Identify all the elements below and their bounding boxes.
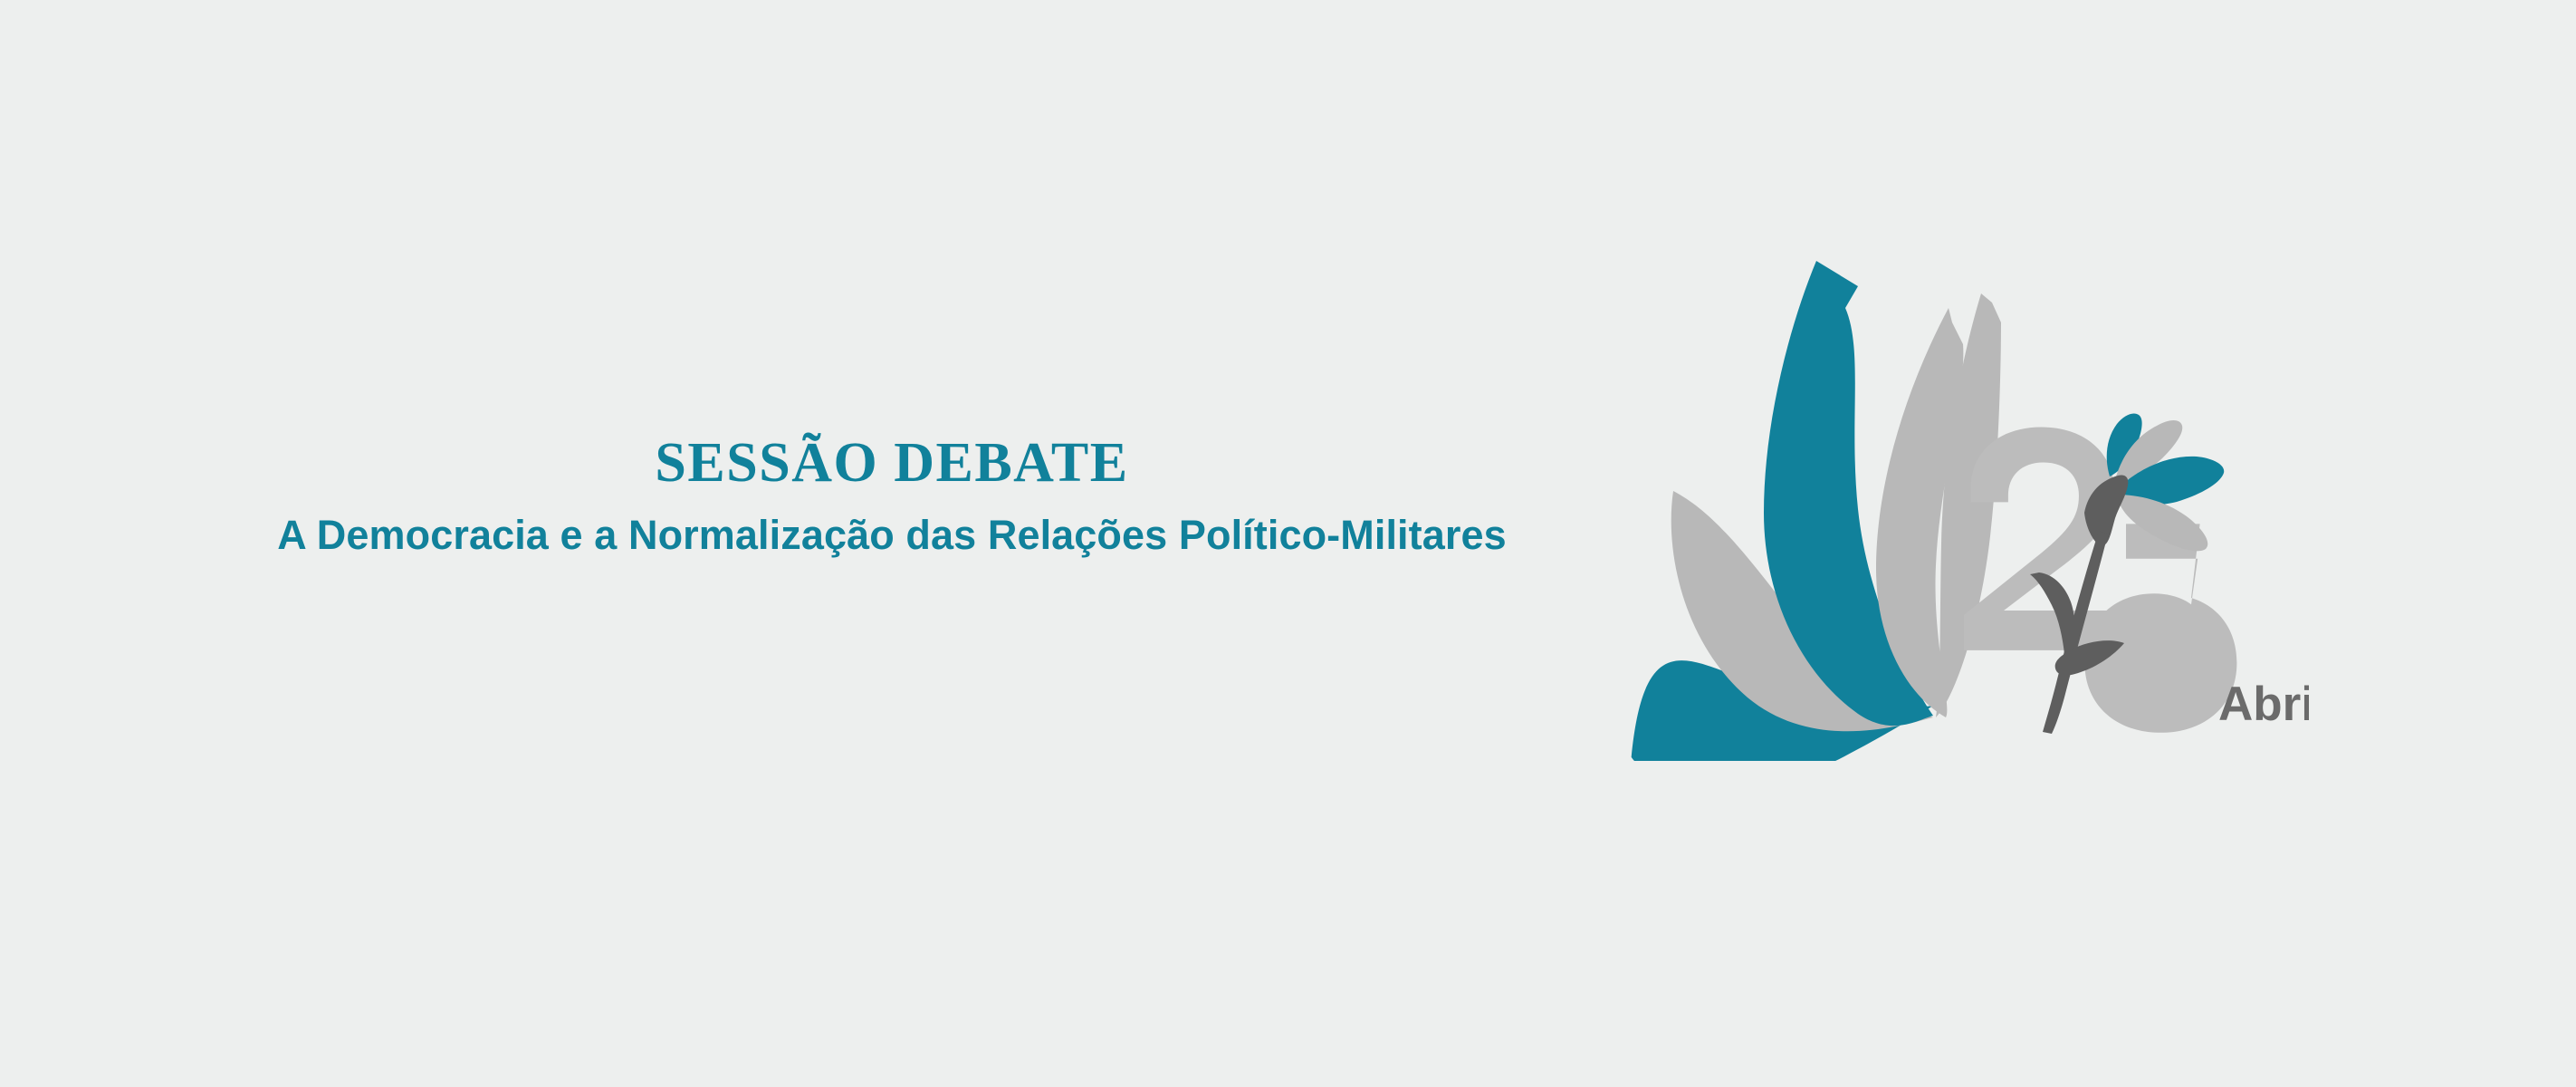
banner-root: SESSÃO DEBATE A Democracia e a Normaliza…: [0, 0, 2576, 1087]
logo-abril-label: Abril: [2218, 678, 2309, 731]
page-title: SESSÃO DEBATE: [127, 435, 1657, 491]
logo-carnation-flower: [2084, 413, 2224, 551]
page-subtitle: A Democracia e a Normalização das Relaçõ…: [127, 515, 1657, 555]
logo-25-abril: Abril: [1621, 254, 2309, 761]
banner-text-block: SESSÃO DEBATE A Democracia e a Normaliza…: [127, 435, 1657, 555]
